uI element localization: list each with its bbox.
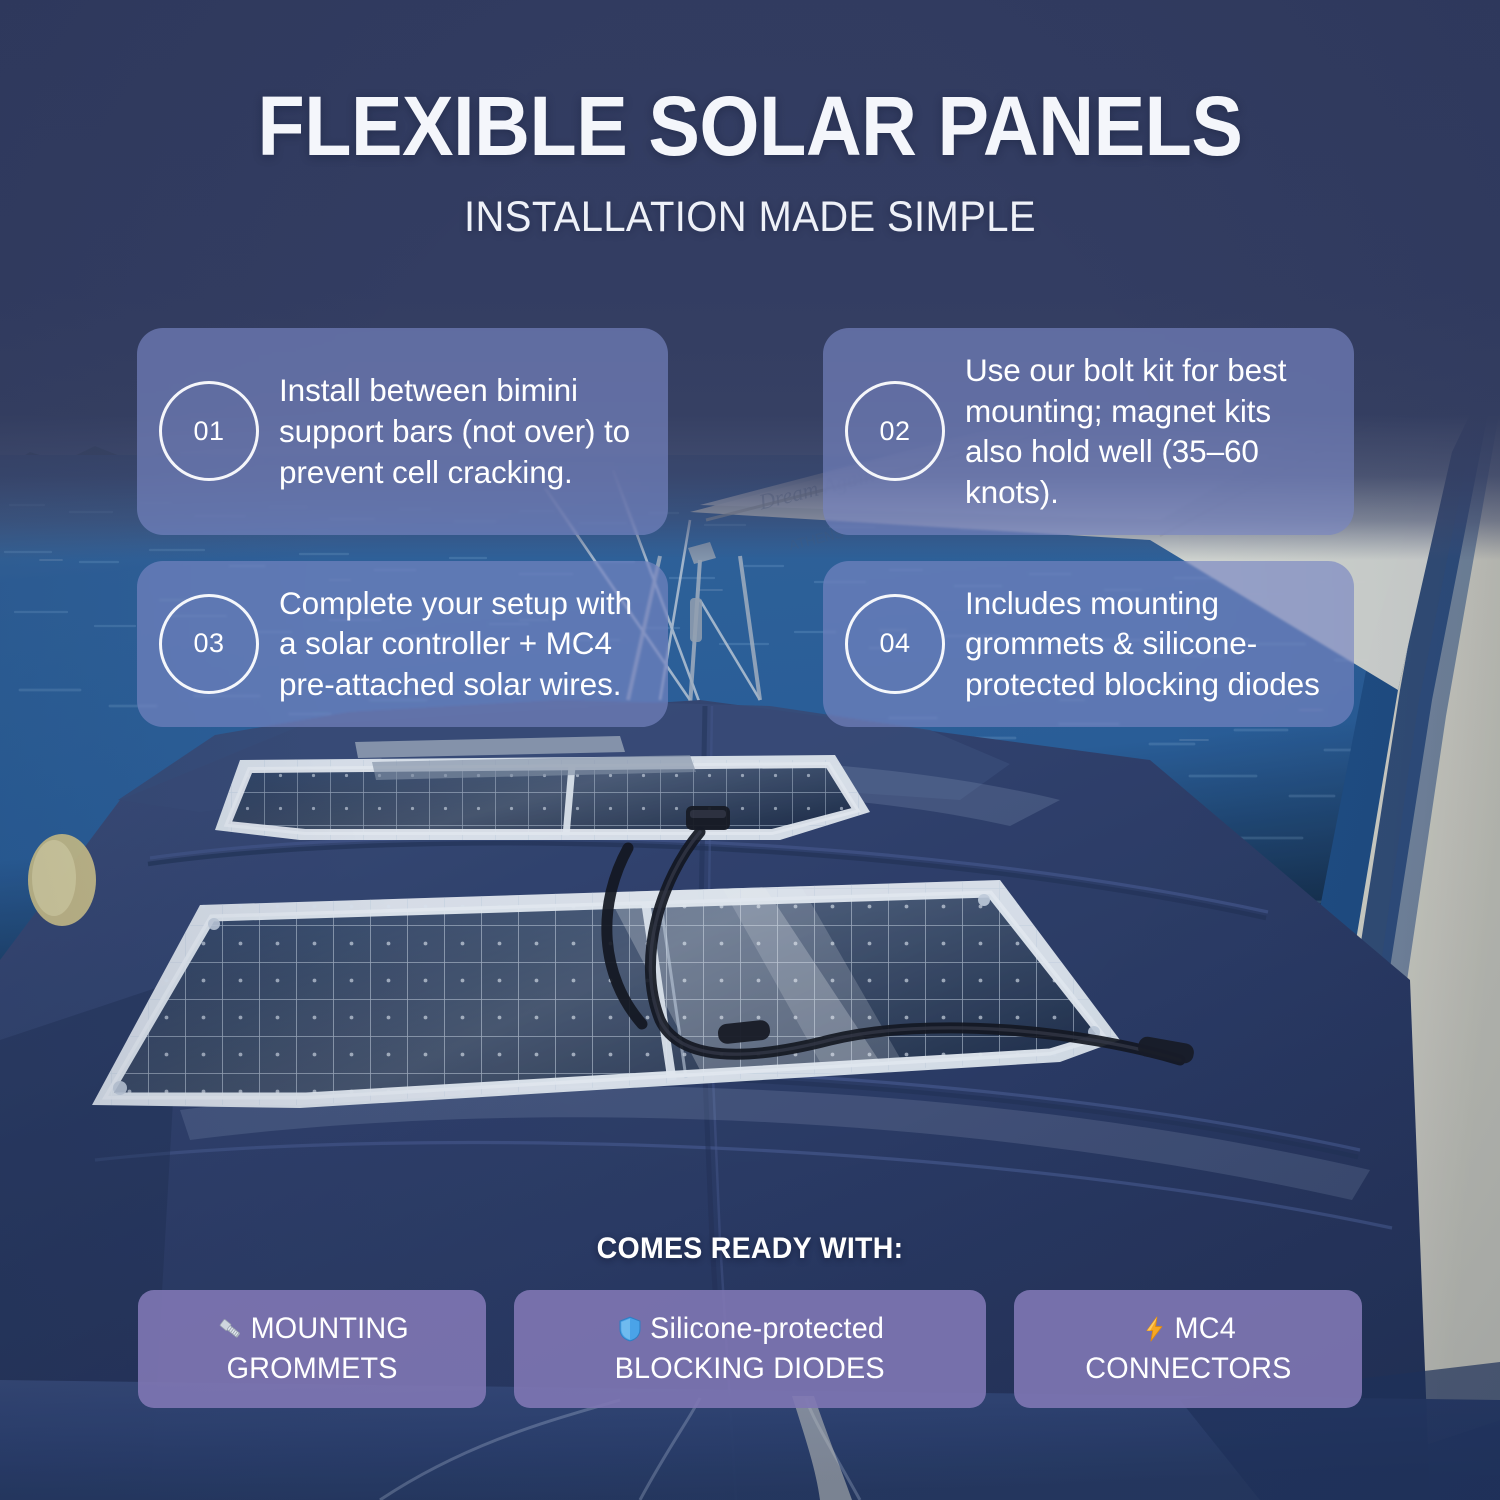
step-number-label: 02	[879, 416, 910, 447]
feature-badges-row: MOUNTING GROMMETS Silicone-protected BLO…	[0, 1290, 1500, 1408]
nut-and-bolt-icon	[216, 1314, 245, 1344]
step-number-circle: 03	[159, 594, 259, 694]
header: FLEXIBLE SOLAR PANELS INSTALLATION MADE …	[0, 0, 1500, 239]
step-text: Use our bolt kit for best mounting; magn…	[965, 350, 1328, 513]
feature-badge-mc4-connectors[interactable]: MC4 CONNECTORS	[1014, 1290, 1362, 1408]
feature-badge-line1-text: MC4	[1175, 1312, 1236, 1346]
steps-grid: 01 Install between bimini support bars (…	[137, 328, 1355, 727]
step-number-label: 04	[879, 628, 910, 659]
feature-badge-line1: MC4	[1140, 1312, 1236, 1346]
feature-badge-line2: CONNECTORS	[1085, 1352, 1291, 1386]
step-text: Includes mounting grommets & silicone-pr…	[965, 583, 1328, 706]
infographic-poster: Dream Again ATHENS	[0, 0, 1500, 1500]
feature-badge-line2: GROMMETS	[226, 1352, 397, 1386]
feature-badge-line1: MOUNTING	[216, 1312, 409, 1346]
comes-ready-section: COMES READY WITH:	[0, 1232, 1500, 1408]
page-subtitle: INSTALLATION MADE SIMPLE	[53, 168, 1448, 239]
page-title: FLEXIBLE SOLAR PANELS	[60, 0, 1440, 168]
feature-badge-line2: BLOCKING DIODES	[615, 1352, 885, 1386]
lightning-bolt-icon	[1140, 1314, 1169, 1344]
step-card-01[interactable]: 01 Install between bimini support bars (…	[137, 328, 668, 535]
feature-badge-line1: Silicone-protected	[616, 1312, 885, 1346]
comes-ready-title: COMES READY WITH:	[38, 1232, 1463, 1266]
shield-icon	[616, 1314, 645, 1344]
feature-badge-line1-text: Silicone-protected	[650, 1312, 884, 1346]
step-text: Install between bimini support bars (not…	[279, 370, 642, 493]
step-card-04[interactable]: 04 Includes mounting grommets & silicone…	[823, 561, 1354, 728]
step-number-label: 03	[193, 628, 224, 659]
step-number-label: 01	[193, 416, 224, 447]
step-card-02[interactable]: 02 Use our bolt kit for best mounting; m…	[823, 328, 1354, 535]
feature-badge-mounting-grommets[interactable]: MOUNTING GROMMETS	[138, 1290, 486, 1408]
step-number-circle: 02	[845, 381, 945, 481]
feature-badge-blocking-diodes[interactable]: Silicone-protected BLOCKING DIODES	[514, 1290, 986, 1408]
step-text: Complete your setup with a solar control…	[279, 583, 642, 706]
feature-badge-line1-text: MOUNTING	[250, 1312, 408, 1346]
step-number-circle: 04	[845, 594, 945, 694]
step-card-03[interactable]: 03 Complete your setup with a solar cont…	[137, 561, 668, 728]
step-number-circle: 01	[159, 381, 259, 481]
